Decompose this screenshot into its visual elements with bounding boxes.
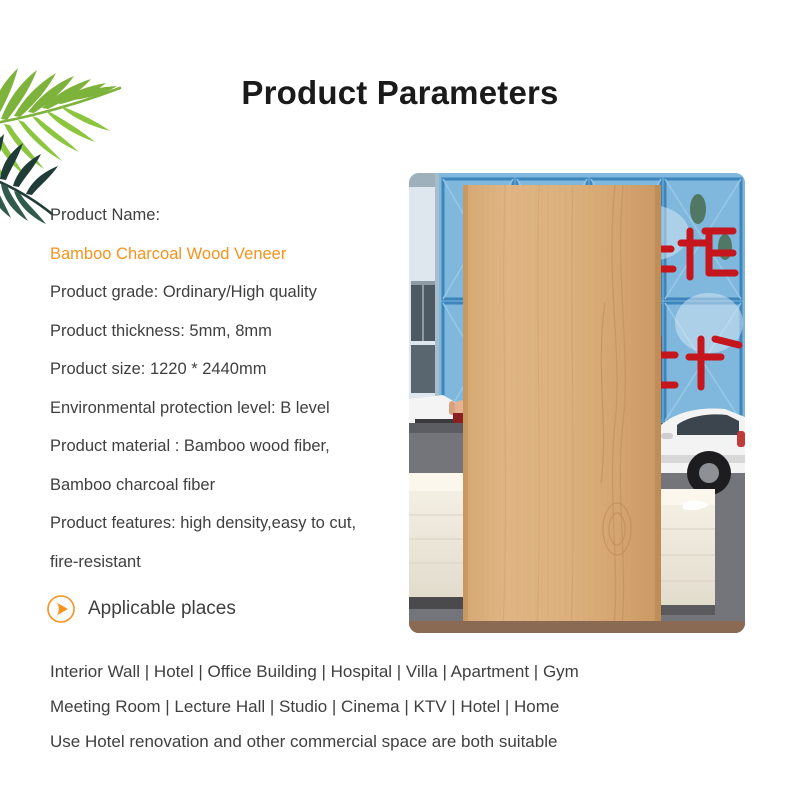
spec-line: fire-resistant — [50, 543, 410, 582]
applicable-places-list: Interior Wall | Hotel | Office Building … — [50, 654, 750, 759]
spec-line: Product thickness: 5mm, 8mm — [50, 312, 410, 351]
product-spec-list: Product Name: Bamboo Charcoal Wood Venee… — [50, 196, 410, 581]
product-photo-illustration — [409, 173, 745, 633]
spec-line: Bamboo charcoal fiber — [50, 466, 410, 505]
applicable-places-label: Applicable places — [88, 598, 236, 620]
product-photo — [409, 173, 745, 633]
photo-building — [409, 173, 441, 423]
page-title: Product Parameters — [0, 74, 800, 112]
photo-wood-veneer-board — [463, 185, 661, 633]
places-line: Use Hotel renovation and other commercia… — [50, 724, 750, 759]
arrow-right-circle-icon — [46, 594, 76, 624]
spec-line: Environmental protection level: B level — [50, 389, 410, 428]
spec-line: Product features: high density,easy to c… — [50, 504, 410, 543]
applicable-places-heading: Applicable places — [46, 594, 236, 624]
spec-line: Product size: 1220 * 2440mm — [50, 350, 410, 389]
product-name-value: Bamboo Charcoal Wood Veneer — [50, 235, 410, 274]
places-line: Interior Wall | Hotel | Office Building … — [50, 654, 750, 689]
spec-line: Product material : Bamboo wood fiber, — [50, 427, 410, 466]
spec-line: Product Name: — [50, 196, 410, 235]
spec-line: Product grade: Ordinary/High quality — [50, 273, 410, 312]
places-line: Meeting Room | Lecture Hall | Studio | C… — [50, 689, 750, 724]
